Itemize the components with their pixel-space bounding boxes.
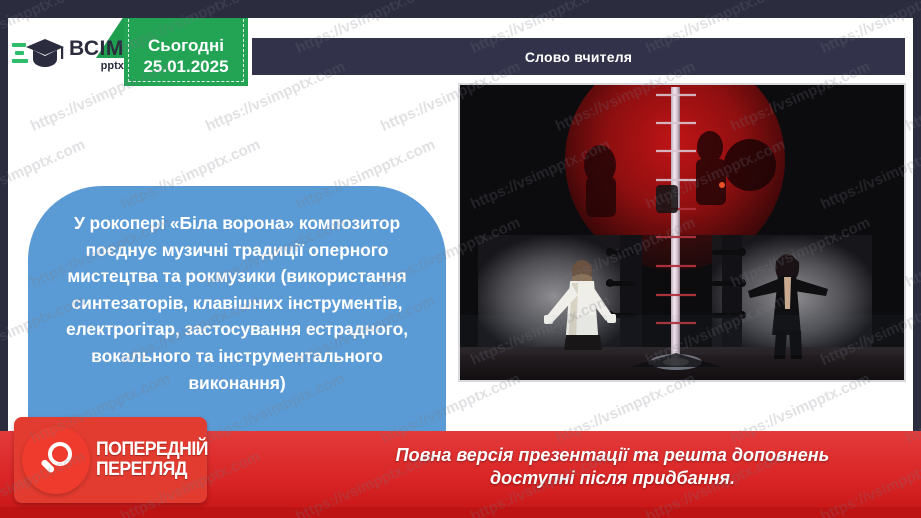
date-badge-label: Сьогодні [148,35,224,56]
slide-title: Слово вчителя [525,49,632,65]
content-paragraph: У рокопері «Біла ворона» композитор поєд… [46,210,428,396]
stage-photo [458,83,906,382]
date-badge-date: 25.01.2025 [143,56,228,77]
slide-header-bar: Слово вчителя [252,38,905,75]
graduation-cap-icon [12,35,64,75]
magnifier-icon [22,426,90,494]
banner-bottom-strip [0,507,921,518]
date-badge: Сьогодні 25.01.2025 [124,18,248,86]
brand-logo: ВСІМ pptx [12,32,140,78]
purchase-banner-line1: Повна версія презентації та решта доповн… [310,444,915,467]
purchase-banner-line2: доступні після придбання. [310,467,915,490]
preview-badge-line2: ПЕРЕГЛЯД [96,460,208,480]
preview-badge-labels: ПОПЕРЕДНІЙ ПЕРЕГЛЯД [96,440,216,480]
preview-badge: ПОПЕРЕДНІЙ ПЕРЕГЛЯД [14,417,207,503]
brand-name: ВСІМ [69,38,124,59]
preview-badge-line1: ПОПЕРЕДНІЙ [96,440,208,460]
cap-glyph [25,37,65,71]
slide-viewer: ВСІМ pptx Сьогодні 25.01.2025 Слово вчит… [0,0,921,518]
purchase-banner-text: Повна версія презентації та решта доповн… [310,444,915,491]
stage-photo-illustration [460,85,904,380]
brand-wordmark: ВСІМ pptx [69,38,124,72]
magnifier-glyph [35,439,77,481]
brand-suffix: pptx [69,61,124,72]
